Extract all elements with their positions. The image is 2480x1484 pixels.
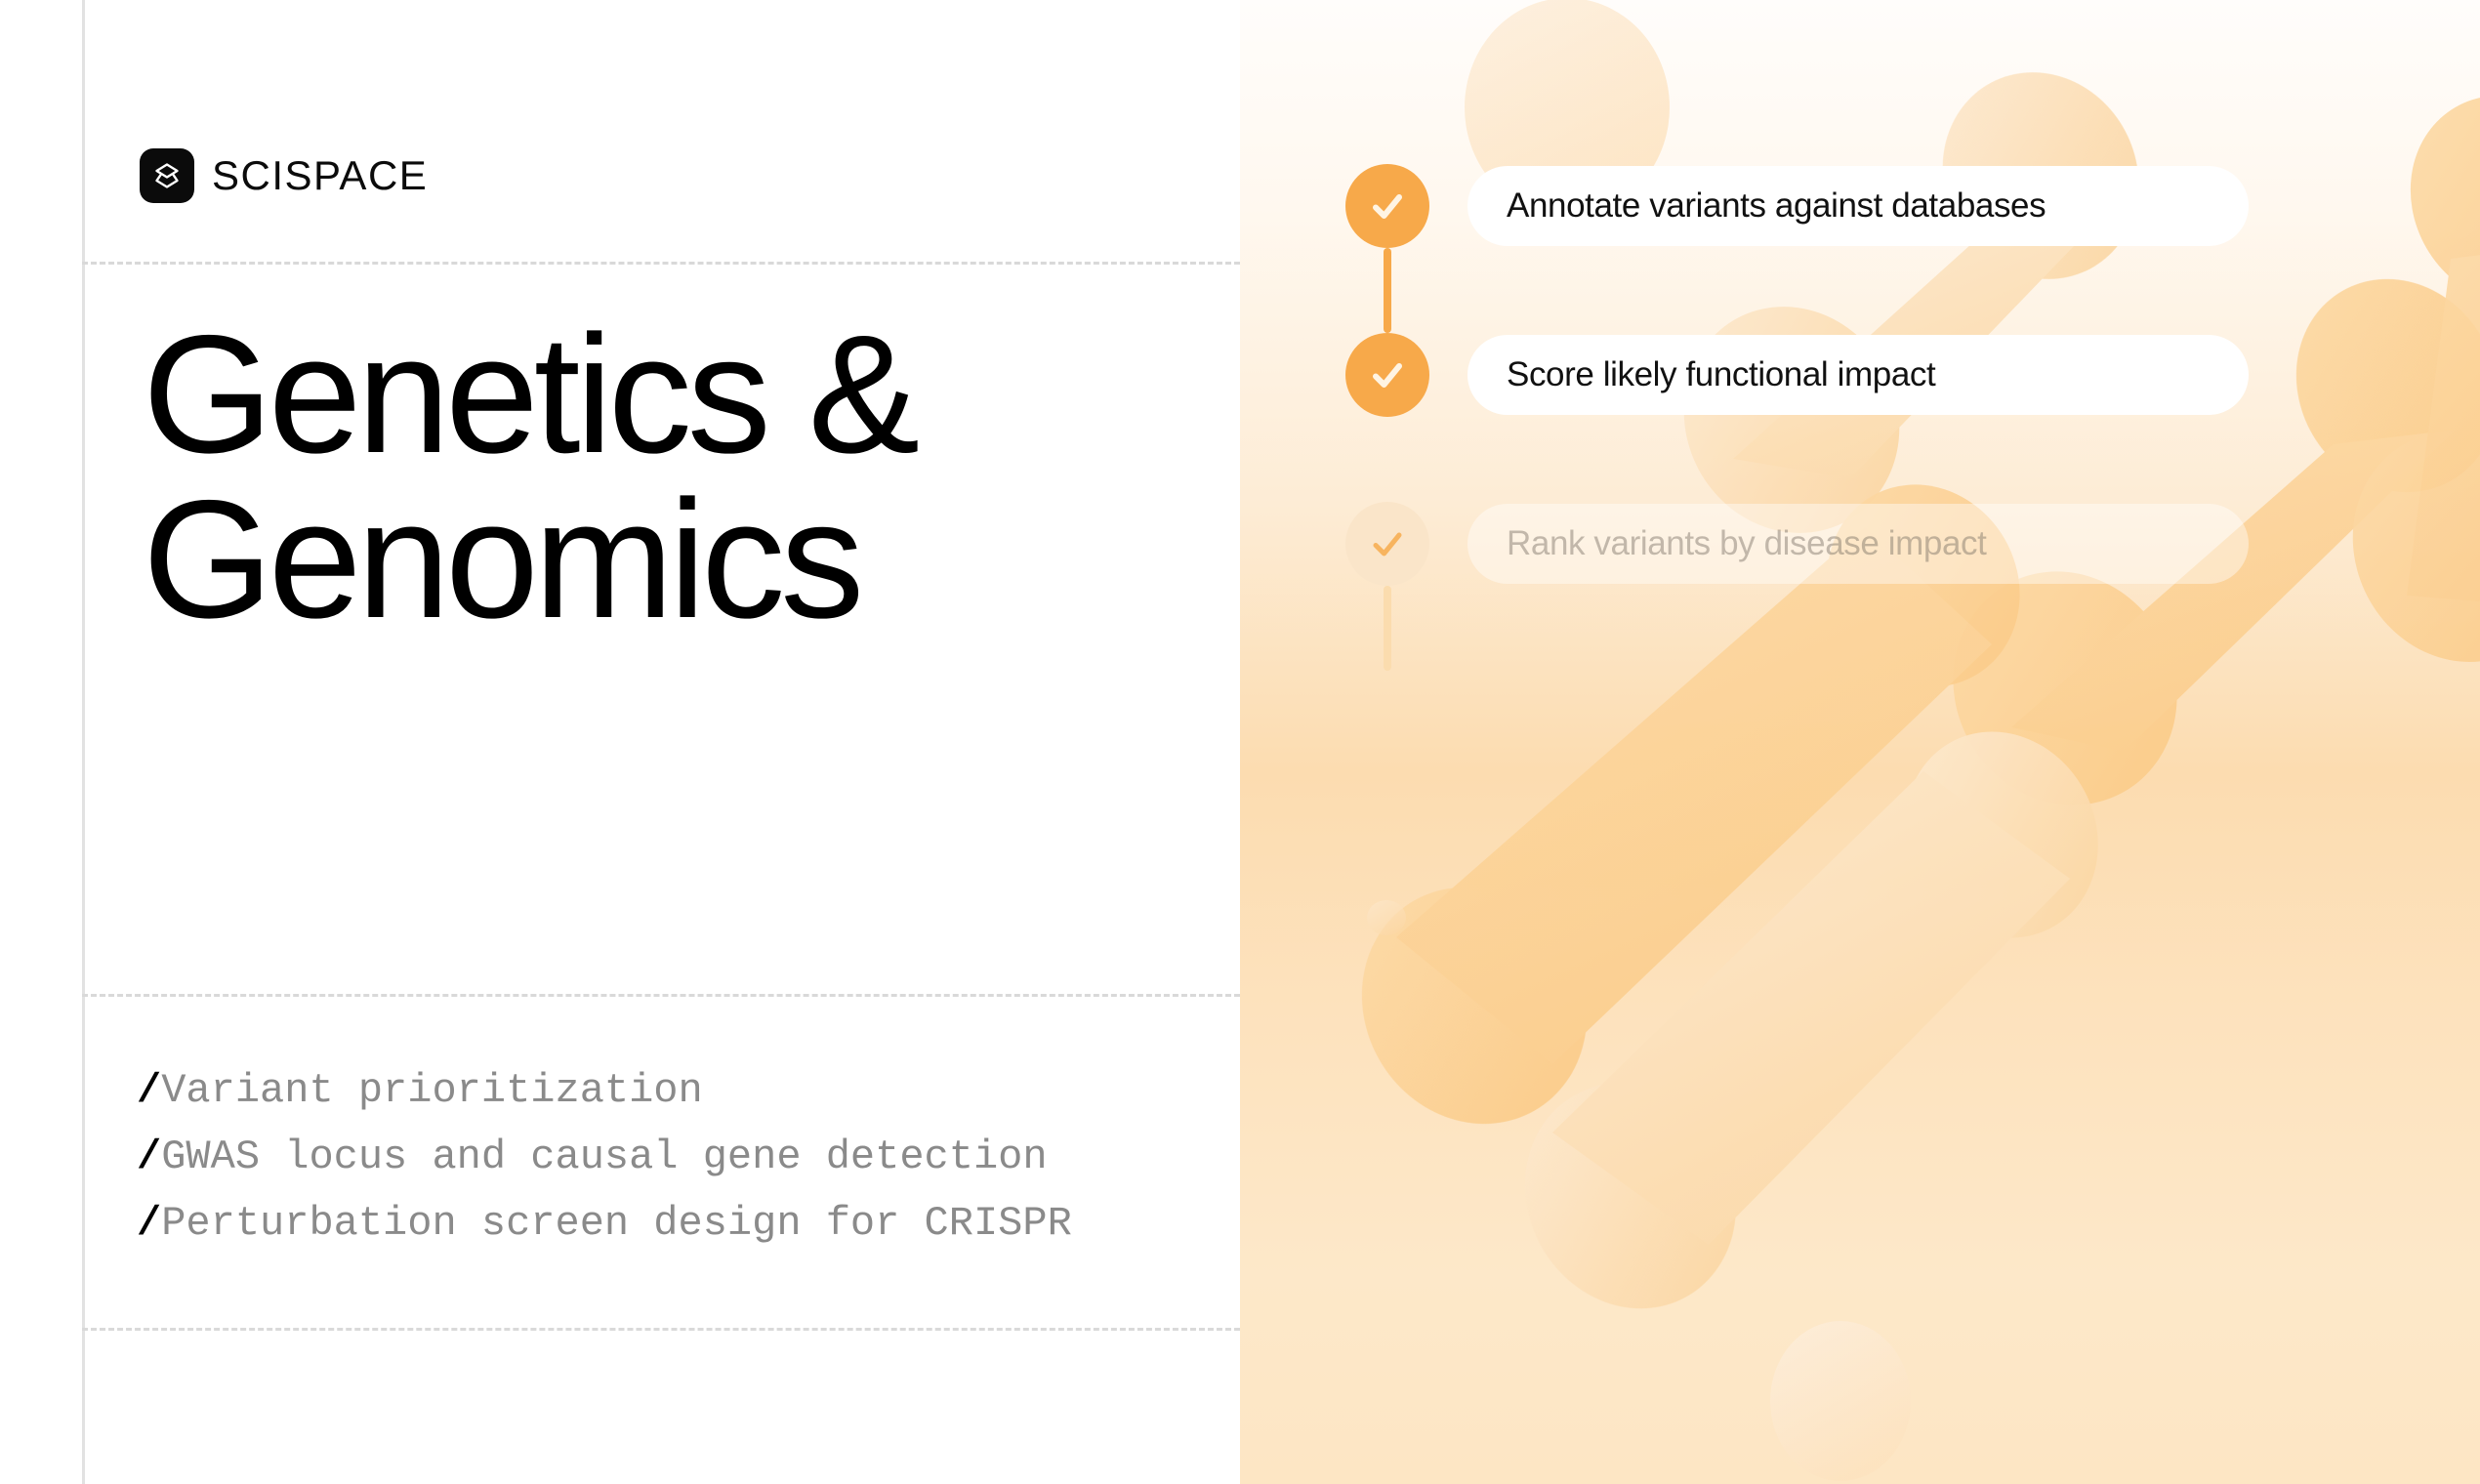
check-icon	[1345, 164, 1429, 248]
list-item: /GWAS locus and causal gene detection	[137, 1124, 1072, 1190]
list-item: /Variant prioritization	[137, 1057, 1072, 1124]
workflow-step[interactable]: Score likely functional impact	[1345, 333, 2419, 417]
check-icon	[1345, 502, 1429, 586]
list-item-label: Variant prioritization	[161, 1067, 703, 1114]
list-item: /Perturbation screen design for CRISPR	[137, 1190, 1072, 1257]
divider-rule-middle	[82, 994, 1240, 997]
divider-rule-top	[82, 262, 1240, 265]
workflow-checklist: Annotate variants against databases Scor…	[1345, 164, 2419, 586]
left-content-panel: SCISPACE Genetics & Genomics /Variant pr…	[0, 0, 1240, 1484]
brand-logo[interactable]: SCISPACE	[140, 148, 428, 203]
illustration-panel: Annotate variants against databases Scor…	[1240, 0, 2480, 1484]
slide-root: SCISPACE Genetics & Genomics /Variant pr…	[0, 0, 2480, 1484]
capability-list: /Variant prioritization /GWAS locus and …	[137, 1057, 1072, 1257]
step-connector-line	[1384, 248, 1391, 333]
step-connector-line	[1384, 586, 1391, 671]
bullet-marker: /	[137, 1134, 161, 1180]
page-title: Genetics & Genomics	[143, 312, 915, 641]
vertical-guide-rule	[82, 0, 85, 1484]
bullet-marker: /	[137, 1067, 161, 1114]
workflow-step[interactable]: Annotate variants against databases	[1345, 164, 2419, 248]
step-card[interactable]: Annotate variants against databases	[1467, 166, 2249, 246]
divider-rule-bottom	[82, 1328, 1240, 1331]
step-card[interactable]: Score likely functional impact	[1467, 335, 2249, 415]
check-icon	[1345, 333, 1429, 417]
brand-wordmark: SCISPACE	[212, 155, 428, 196]
list-item-label: GWAS locus and causal gene detection	[161, 1134, 1047, 1180]
step-card[interactable]: Rank variants by disease impact	[1467, 504, 2249, 584]
workflow-step[interactable]: Rank variants by disease impact	[1345, 502, 2419, 586]
scispace-layers-icon	[140, 148, 194, 203]
list-item-label: Perturbation screen design for CRISPR	[161, 1200, 1072, 1247]
bullet-marker: /	[137, 1200, 161, 1247]
